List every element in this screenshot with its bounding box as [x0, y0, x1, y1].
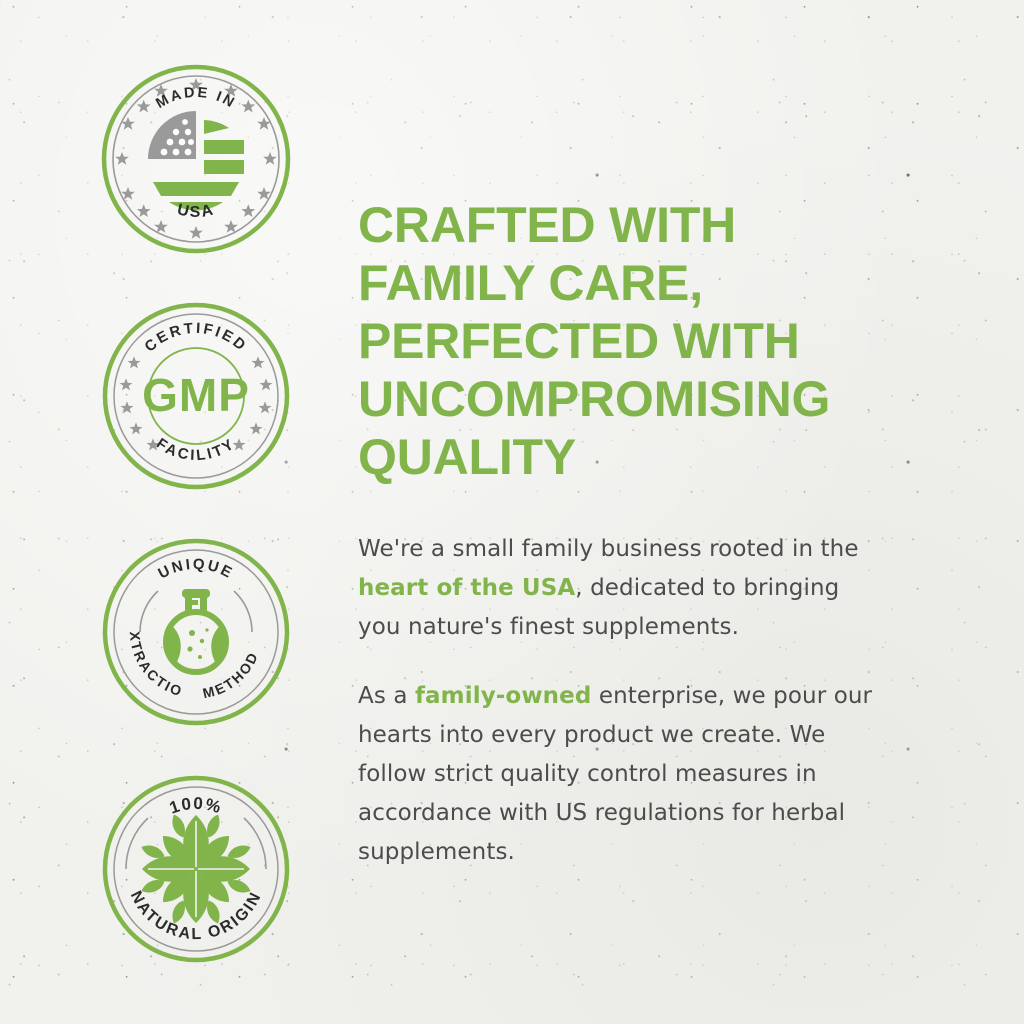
body-paragraph-1: We're a small family business rooted in … — [358, 530, 878, 647]
infographic-page: MADE IN USA — [0, 0, 1024, 1024]
text-segment-1-1: We're a small family business rooted in … — [358, 536, 859, 562]
accent-arc-right — [244, 818, 266, 869]
page-title: CRAFTED WITH FAMILY CARE, PERFECTED WITH… — [358, 196, 923, 486]
highlighted-phrase-2-2: family-owned — [415, 683, 592, 709]
highlighted-phrase-1-2: heart of the USA — [358, 575, 575, 601]
body-copy: We're a small family business rooted in … — [358, 530, 878, 872]
flask-leaf-icon — [164, 589, 228, 672]
badge-top-text: CERTIFIED — [141, 319, 250, 355]
badge-gmp-certified-facility: GMP CERTIFIED FACILITY — [101, 301, 291, 491]
text-segment-2-3: enterprise, we pour our hearts into ever… — [358, 683, 872, 865]
accent-arc-right — [234, 591, 252, 632]
badge-made-in-usa: MADE IN USA — [101, 64, 291, 254]
badge-unique-extraction-method: UNIQUE EXTRACTION METHOD — [101, 537, 291, 727]
text-segment-2-1: As a — [358, 683, 415, 709]
body-paragraph-2: As a family-owned enterprise, we pour ou… — [358, 677, 878, 872]
leaf-rosette-icon — [139, 812, 252, 925]
content-column: CRAFTED WITH FAMILY CARE, PERFECTED WITH… — [358, 196, 918, 872]
badge-bottom-text: USA — [176, 201, 217, 221]
badge-natural-origin: 100% NATURAL ORIGIN — [101, 774, 291, 964]
usa-flag-circle-icon — [148, 111, 244, 210]
badge-top-text: UNIQUE — [156, 556, 237, 583]
gmp-text-icon: GMP — [142, 369, 250, 421]
trust-badge-column: MADE IN USA — [96, 64, 296, 964]
badge-bottom-text: FACILITY — [153, 435, 239, 464]
badge-right-text: METHOD — [201, 649, 261, 702]
accent-arc-left — [126, 818, 148, 869]
accent-arc-left — [140, 591, 158, 632]
badge-top-text: 100% — [167, 794, 225, 818]
